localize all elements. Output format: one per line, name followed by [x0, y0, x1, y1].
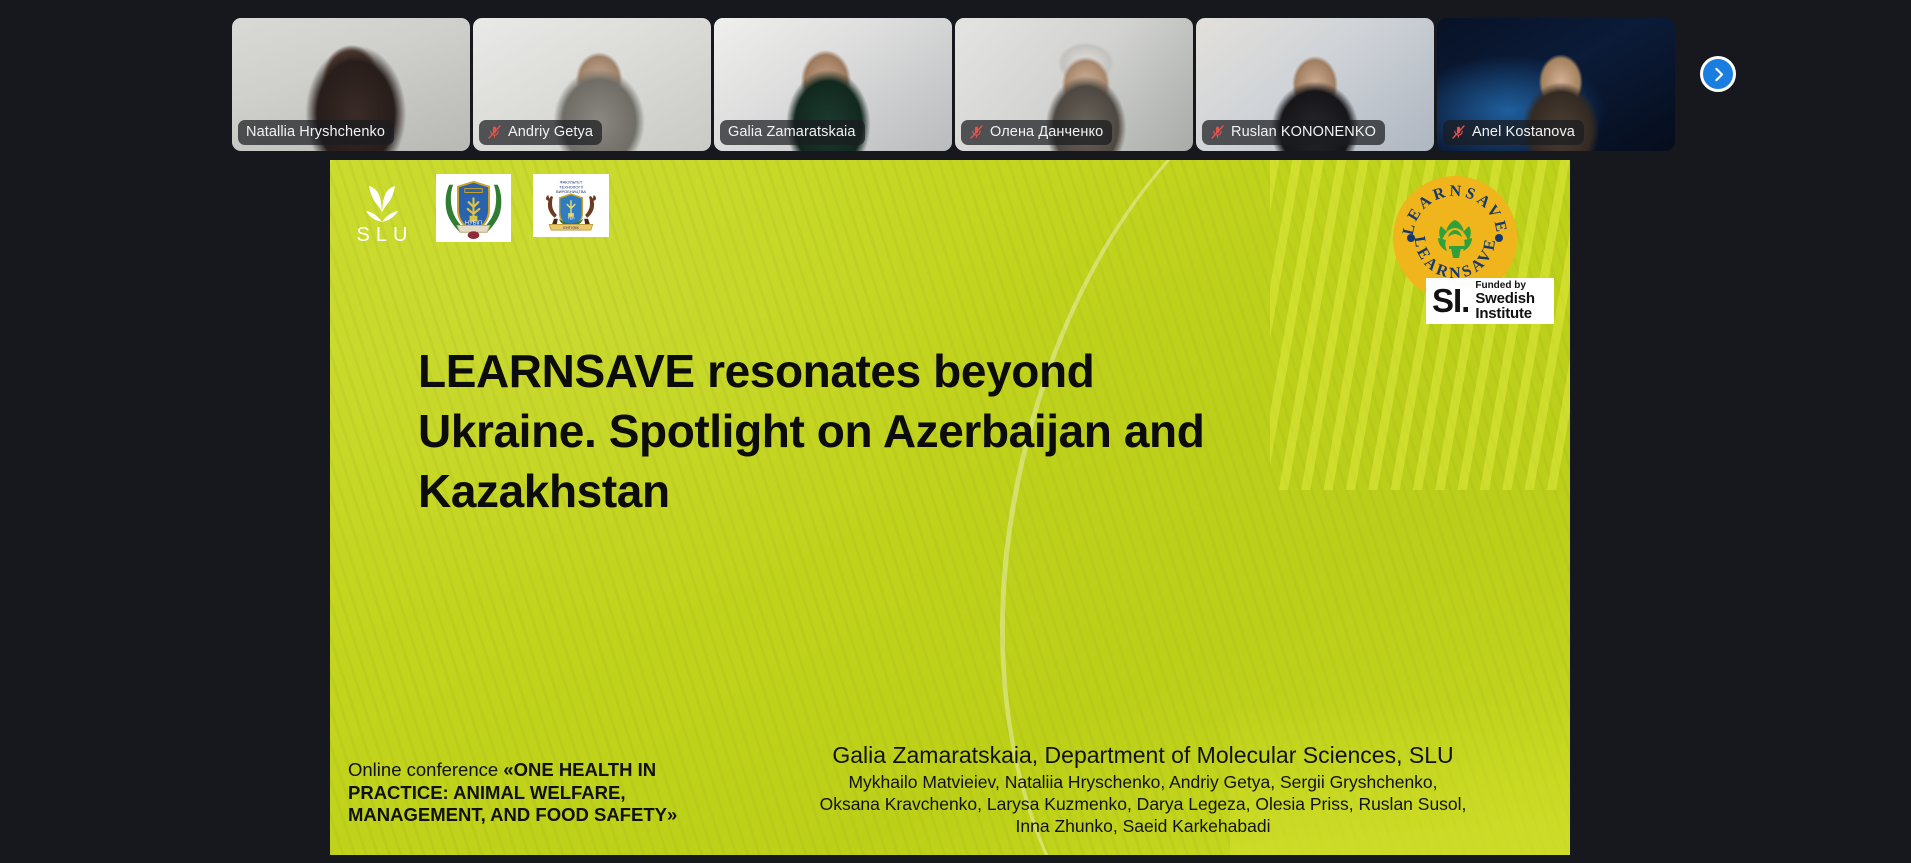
authors-line-1: Mykhailo Matvieiev, Nataliia Hryschenko,…	[730, 771, 1556, 793]
participant-tile[interactable]: Andriy Getya	[473, 18, 711, 151]
slu-logo: SLU	[350, 174, 414, 247]
participant-filmstrip: Natallia Hryshchenko Andriy Getya Galia …	[232, 18, 1675, 151]
nubip-crest-logo: НУБіП	[436, 174, 511, 242]
mic-muted-icon	[969, 124, 984, 140]
participant-name: Олена Данченко	[990, 124, 1103, 140]
slu-wordmark: SLU	[351, 224, 414, 247]
zoom-meeting-screen: Natallia Hryshchenko Andriy Getya Galia …	[0, 0, 1911, 863]
authors-line-3: Inna Zhunko, Saeid Karkehabadi	[730, 815, 1556, 837]
slu-leaf-icon	[358, 182, 406, 222]
filmstrip-next-page-button[interactable]	[1700, 56, 1736, 92]
chevron-right-icon	[1710, 66, 1727, 83]
slide-logo-row: SLU НУБіП ФАКУЛЬТЕТ ТЕХНО	[350, 174, 609, 247]
participant-name: Anel Kostanova	[1472, 124, 1575, 140]
participant-name: Ruslan KONONENKO	[1231, 124, 1376, 140]
participant-tile[interactable]: Ruslan KONONENKO	[1196, 18, 1434, 151]
slide-title: LEARNSAVE resonates beyond Ukraine. Spot…	[418, 342, 1218, 521]
participant-name: Galia Zamaratskaia	[728, 124, 856, 140]
nubip-coat-of-arms-icon: НУБіП	[439, 177, 508, 239]
swedish-institute-funder-logo: SI. Funded by Swedish Institute	[1426, 278, 1554, 324]
funder-name-line2: Institute	[1475, 306, 1534, 321]
svg-text:ВИРОБНИЦТВА: ВИРОБНИЦТВА	[556, 189, 586, 194]
participant-namebar: Ruslan KONONENKO	[1202, 120, 1385, 145]
participant-namebar: Galia Zamaratskaia	[720, 120, 865, 145]
svg-text:ТВП: ТВП	[568, 217, 575, 221]
conference-name-block: Online conference «ONE HEALTH IN PRACTIC…	[348, 759, 708, 827]
conference-prefix: Online conference	[348, 759, 503, 780]
participant-name: Andriy Getya	[508, 124, 593, 140]
mic-muted-icon	[1451, 124, 1466, 140]
faculty-crest-logo: ФАКУЛЬТЕТ ТЕХНОЛОГІЇ ВИРОБНИЦТВА ТВП ЕН	[533, 174, 609, 237]
participant-name: Natallia Hryshchenko	[246, 124, 385, 140]
participant-namebar: Andriy Getya	[479, 120, 602, 145]
participant-tile[interactable]: Natallia Hryshchenko	[232, 18, 470, 151]
funder-name-line1: Swedish	[1475, 291, 1534, 306]
faculty-coat-of-arms-icon: ФАКУЛЬТЕТ ТЕХНОЛОГІЇ ВИРОБНИЦТВА ТВП ЕН	[536, 177, 606, 234]
participant-tile[interactable]: Олена Данченко	[955, 18, 1193, 151]
presenter-line: Galia Zamaratskaia, Department of Molecu…	[730, 742, 1556, 769]
participant-tile[interactable]: Anel Kostanova	[1437, 18, 1675, 151]
shared-presentation-slide: SLU НУБіП ФАКУЛЬТЕТ ТЕХНО	[330, 160, 1570, 855]
si-text-block: Funded by Swedish Institute	[1475, 281, 1534, 321]
mic-muted-icon	[487, 124, 502, 140]
participant-namebar: Natallia Hryshchenko	[238, 120, 394, 145]
authors-block: Galia Zamaratskaia, Department of Molecu…	[730, 742, 1556, 837]
participant-namebar: Anel Kostanova	[1443, 120, 1584, 145]
authors-line-2: Oksana Kravchenko, Larysa Kuzmenko, Dary…	[730, 793, 1556, 815]
participant-tile-active-speaker[interactable]: Galia Zamaratskaia	[714, 18, 952, 151]
mic-muted-icon	[1210, 124, 1225, 140]
participant-namebar: Олена Данченко	[961, 120, 1112, 145]
svg-text:ЕНТУЗІК: ЕНТУЗІК	[563, 226, 579, 230]
si-mark: SI.	[1432, 285, 1469, 316]
